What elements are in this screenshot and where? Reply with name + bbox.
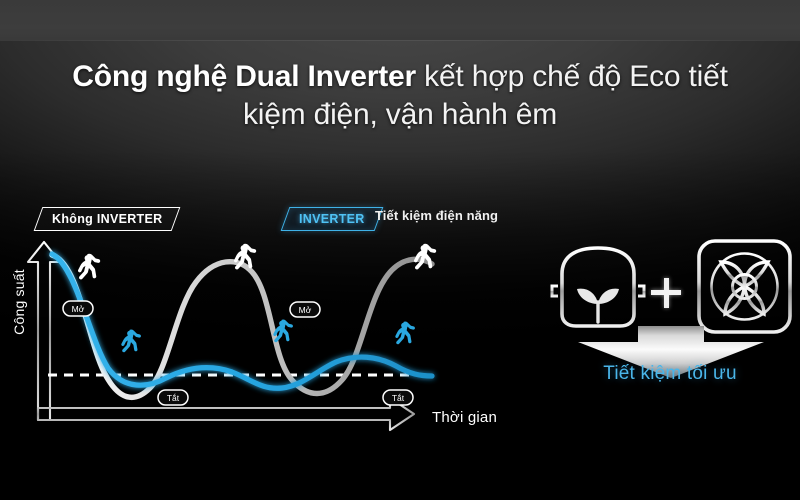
page-title: Công nghệ Dual Inverter kết hợp chế độ E…: [0, 58, 800, 134]
runner-icon-white-1: [78, 254, 100, 280]
marker-label-3: Mở: [299, 305, 312, 315]
marker-label-4: Tắt: [392, 393, 405, 403]
runner-icon-blue-2: [273, 320, 293, 343]
headline-line2: kiệm điện, vận hành êm: [243, 98, 557, 131]
power-vs-time-chart: Mở Tắt Mở Tắt Công suất Thời gian: [0, 190, 540, 450]
x-axis-arrow: [38, 398, 414, 430]
marker-badge-mo-1: Mở: [63, 301, 93, 316]
headline-bold: Công nghệ Dual Inverter: [72, 60, 416, 93]
x-axis-label: Thời gian: [432, 409, 497, 426]
marker-badge-tat-2: Tắt: [383, 390, 413, 405]
y-axis-label: Công suất: [11, 257, 27, 347]
marker-label-2: Tắt: [167, 393, 180, 403]
plus-icon: [651, 278, 681, 308]
runner-icon-blue-3: [395, 322, 415, 345]
y-axis-arrow: [28, 242, 60, 420]
marker-label-1: Mở: [72, 304, 85, 314]
marker-badge-mo-2: Mở: [290, 302, 320, 317]
promo-banner: Công nghệ Dual Inverter kết hợp chế độ E…: [0, 0, 800, 500]
feature-icon-cluster: Tiết kiệm tối ưu: [540, 230, 800, 480]
runner-icon-blue-1: [121, 330, 141, 353]
savings-caption: Tiết kiệm tối ưu: [540, 363, 800, 385]
headline-rest: kết hợp chế độ Eco tiết: [416, 60, 728, 93]
dual-inverter-rotor-icon: [692, 234, 797, 339]
inverter-curve: [52, 254, 432, 388]
marker-badge-tat-1: Tắt: [158, 390, 188, 405]
